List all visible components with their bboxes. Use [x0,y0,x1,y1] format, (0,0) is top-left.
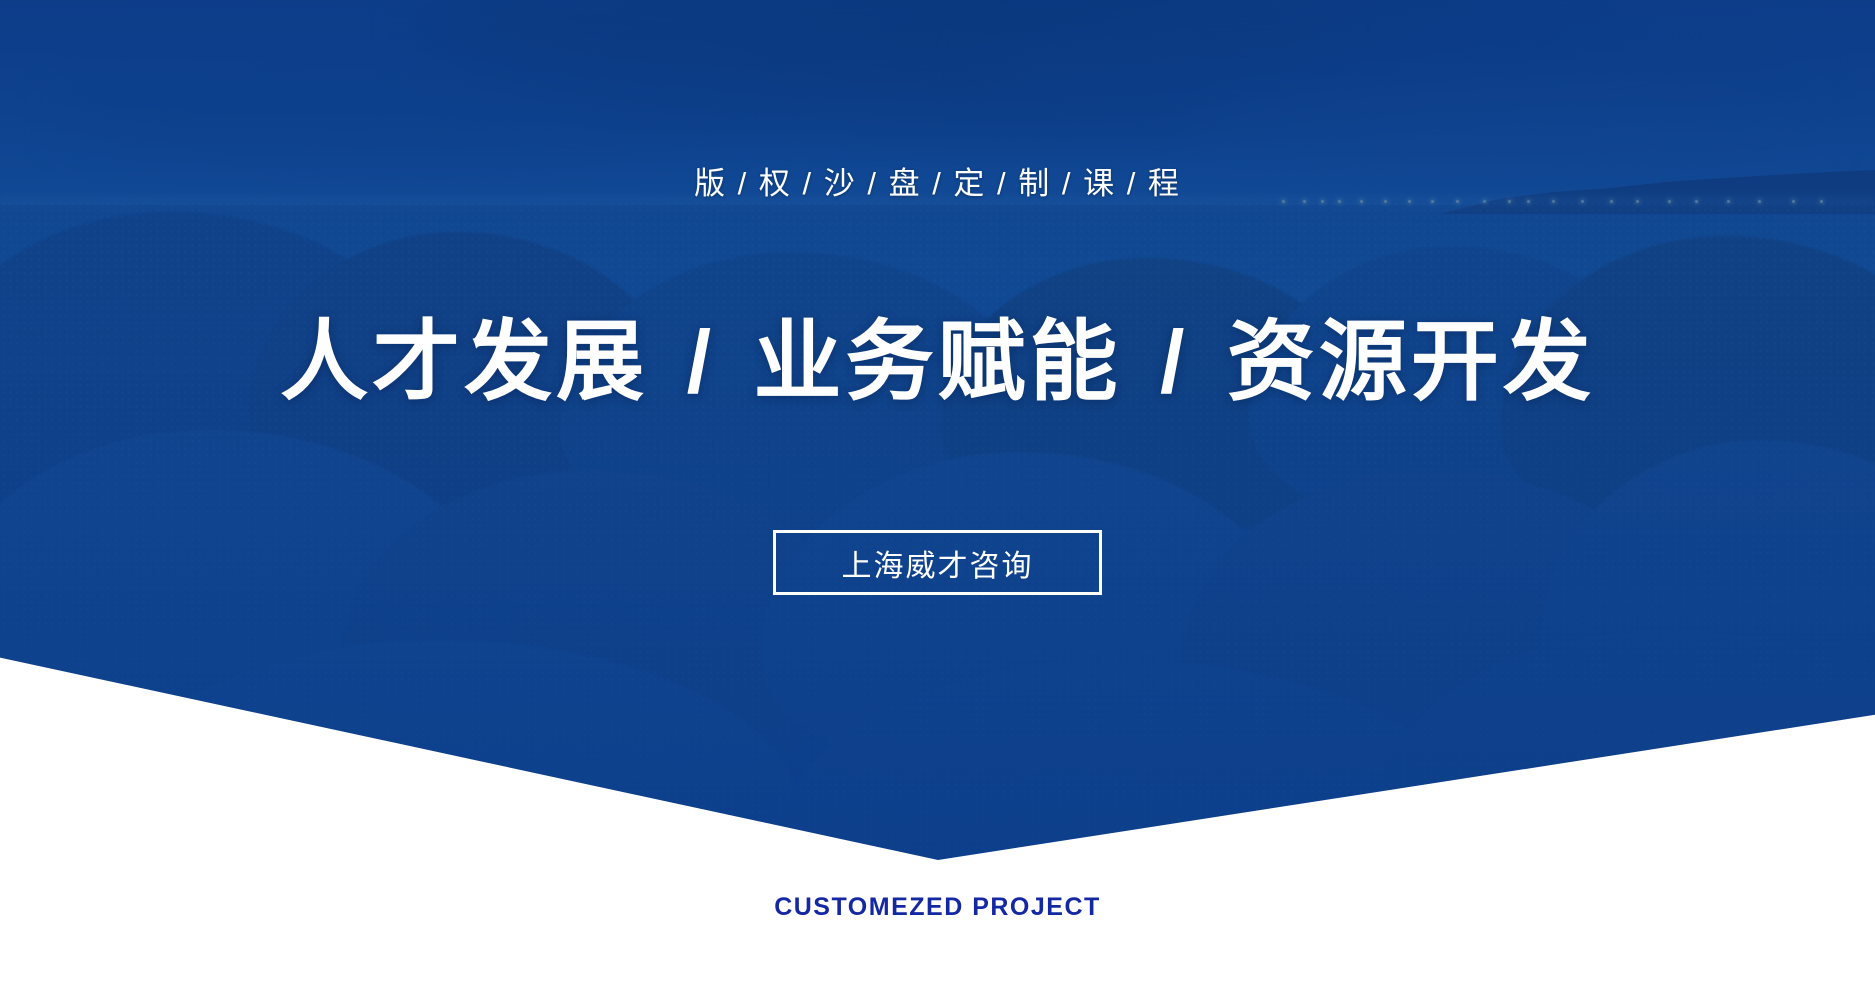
footer-project-label: CUSTOMEZED PROJECT [0,893,1875,922]
company-cta-button[interactable]: 上海威才咨询 [773,530,1102,595]
hero-content: 版 / 权 / 沙 / 盘 / 定 / 制 / 课 / 程 人才发展 / 业务赋… [0,0,1875,1000]
headline-separator: / [1150,312,1198,411]
hero-headline: 人才发展 / 业务赋能 / 资源开发 [0,318,1875,406]
headline-part-1: 人才发展 [280,312,648,411]
headline-part-3: 资源开发 [1227,312,1595,411]
hero-eyebrow: 版 / 权 / 沙 / 盘 / 定 / 制 / 课 / 程 [0,168,1875,199]
headline-part-2: 业务赋能 [753,312,1121,411]
headline-separator: / [677,312,725,411]
slide-canvas: 版 / 权 / 沙 / 盘 / 定 / 制 / 课 / 程 人才发展 / 业务赋… [0,0,1875,1000]
